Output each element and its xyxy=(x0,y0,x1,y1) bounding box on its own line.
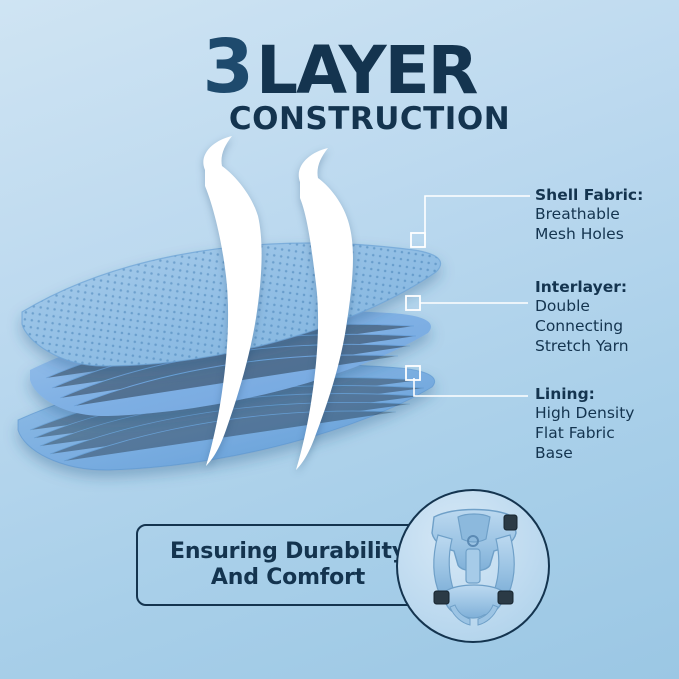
callout-lining-line1: High Density xyxy=(535,404,679,424)
title-word: LAYER xyxy=(256,43,477,99)
title-number: 3 xyxy=(202,36,252,99)
callout-lining-heading: Lining: xyxy=(535,385,679,404)
infographic-root: 3 LAYER CONSTRUCTION xyxy=(0,0,679,679)
callout-lining-line3: Base xyxy=(535,444,679,464)
title-main-row: 3 LAYER xyxy=(0,36,679,99)
tagline-line2: And Comfort xyxy=(170,565,406,591)
callout-interlayer-line1: Double xyxy=(535,297,679,317)
callout-shell-fabric-line1: Breathable xyxy=(535,205,679,225)
dog-harness-icon xyxy=(398,491,548,641)
tagline-badge: Ensuring Durability And Comfort xyxy=(136,524,440,606)
callout-interlayer: Interlayer: Double Connecting Stretch Ya… xyxy=(535,278,679,357)
callout-interlayer-line2: Connecting xyxy=(535,317,679,337)
tagline-line1: Ensuring Durability xyxy=(170,539,406,565)
tagline-text: Ensuring Durability And Comfort xyxy=(170,539,406,591)
callout-lining: Lining: High Density Flat Fabric Base xyxy=(535,385,679,464)
callout-shell-fabric-line2: Mesh Holes xyxy=(535,225,679,245)
callout-interlayer-heading: Interlayer: xyxy=(535,278,679,297)
callout-lining-line2: Flat Fabric xyxy=(535,424,679,444)
product-photo-circle xyxy=(396,489,550,643)
callout-interlayer-line3: Stretch Yarn xyxy=(535,337,679,357)
callout-shell-fabric-heading: Shell Fabric: xyxy=(535,186,679,205)
callout-shell-fabric: Shell Fabric: Breathable Mesh Holes xyxy=(535,186,679,245)
layer-stack-illustration xyxy=(0,130,480,510)
page-title: 3 LAYER CONSTRUCTION xyxy=(0,36,679,137)
